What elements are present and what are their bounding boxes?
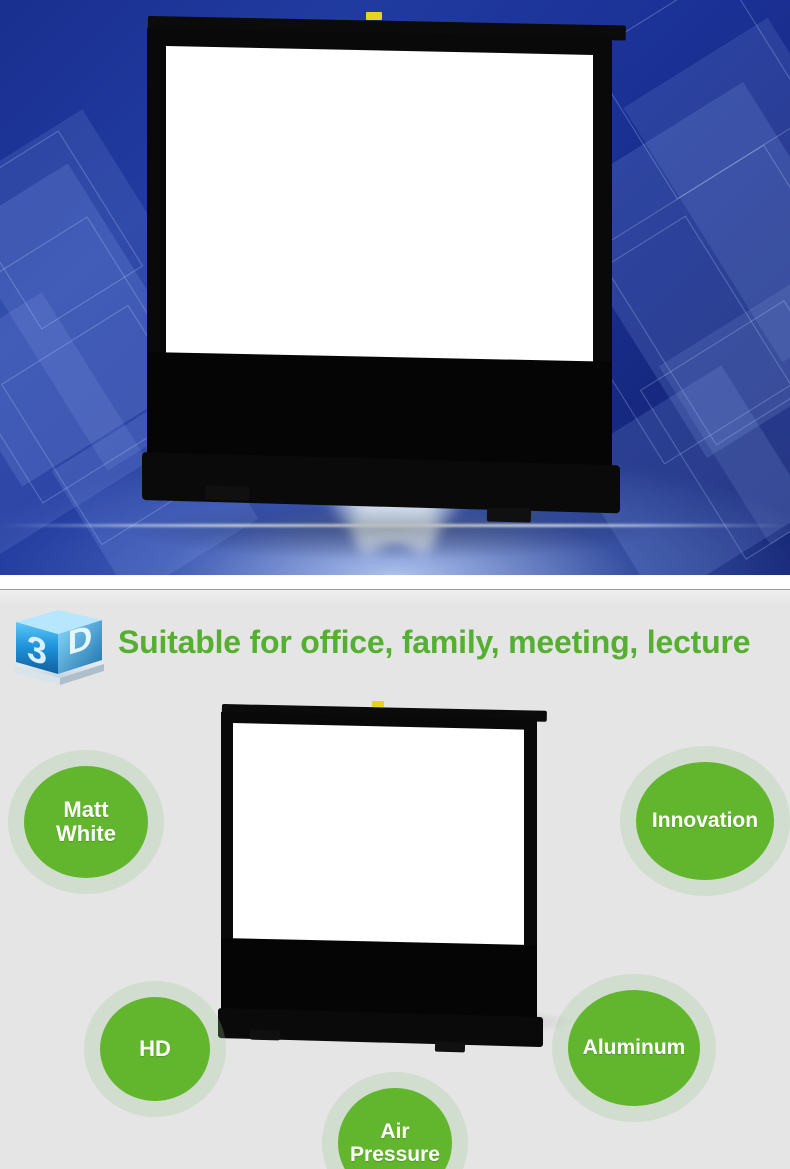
hero-banner — [0, 0, 790, 575]
badge-line: Air — [350, 1120, 440, 1143]
badge-line: Aluminum — [583, 1036, 686, 1059]
badge-line: Innovation — [652, 809, 758, 832]
product-detail-page: 3 D Suitable for office, family, meeting… — [0, 0, 790, 1169]
badge-line: White — [56, 822, 116, 846]
badge-hd: HD — [100, 997, 210, 1101]
badge-aluminum: Aluminum — [568, 990, 700, 1106]
badge-innovation: Innovation — [636, 762, 774, 880]
svg-text:3: 3 — [27, 627, 47, 673]
badge-line: Matt — [56, 798, 116, 822]
svg-text:D: D — [68, 618, 93, 662]
feature-headline: Suitable for office, family, meeting, le… — [118, 624, 750, 661]
badge-line: Pressure — [350, 1143, 440, 1166]
3d-logo: 3 D — [8, 608, 110, 690]
hero-product-image — [0, 0, 790, 575]
badge-line: HD — [139, 1037, 171, 1061]
panel-gap — [0, 575, 790, 589]
badge-matt-white: Matt White — [24, 766, 148, 878]
